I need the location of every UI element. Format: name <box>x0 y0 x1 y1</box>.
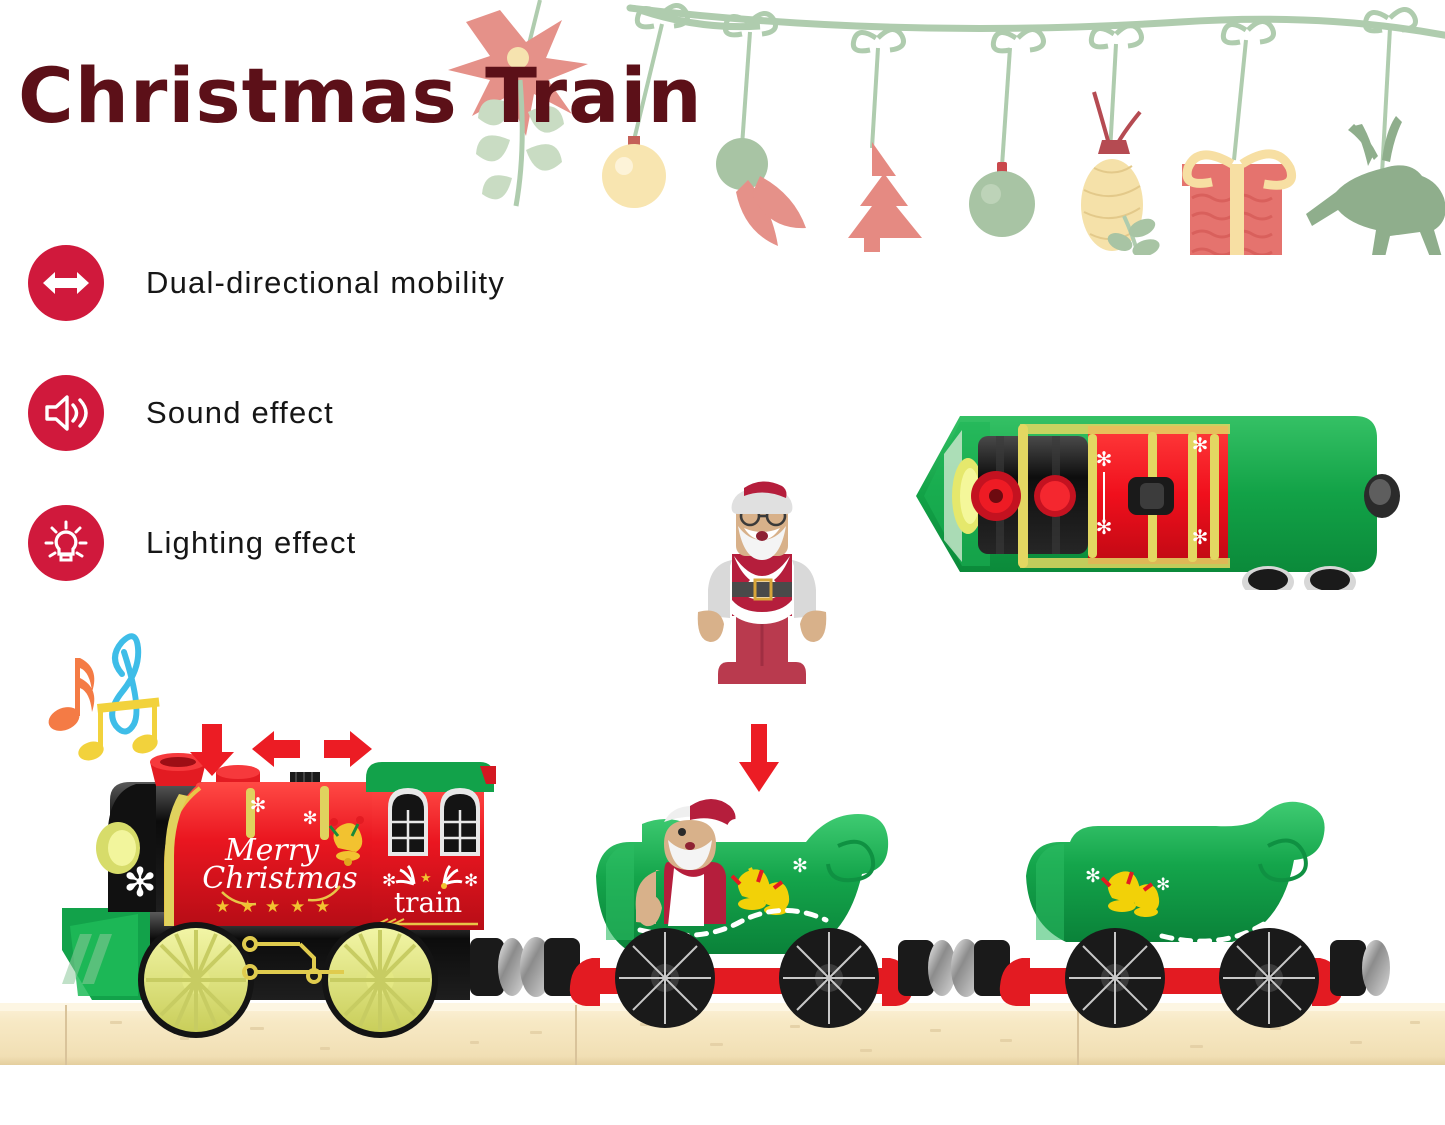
arrow-down-icon <box>739 724 779 792</box>
svg-text:★: ★ <box>265 897 280 917</box>
svg-text:✻: ✻ <box>123 860 157 906</box>
page-title: Christmas Train <box>18 58 703 134</box>
svg-text:✻: ✻ <box>464 871 478 891</box>
svg-text:✻: ✻ <box>1085 865 1101 887</box>
cream-ball-ornament <box>602 136 666 208</box>
feature-label: Lighting effect <box>146 525 356 561</box>
feature-list: Dual-directional mobility Sound effect <box>28 240 505 630</box>
svg-text:✻: ✻ <box>302 808 317 829</box>
green-ball-leaf-ornament <box>716 138 806 246</box>
infographic-canvas: Christmas Train Dual-directional mobilit… <box>0 0 1445 1125</box>
svg-text:✻: ✻ <box>250 793 267 817</box>
pinecone-ornament <box>1081 92 1162 255</box>
coupler-magnet <box>898 939 1010 997</box>
locomotive-top-view: ✻✻✻✻ <box>900 404 1416 590</box>
feature-item-lighting-effect[interactable]: Lighting effect <box>28 500 505 586</box>
svg-text:✻: ✻ <box>792 855 808 877</box>
svg-text:✻: ✻ <box>1156 875 1170 895</box>
svg-text:✻: ✻ <box>1192 525 1209 549</box>
gift-box-ornament <box>1182 154 1292 255</box>
coupler-magnet <box>470 937 580 997</box>
reindeer-ornament <box>1306 116 1445 255</box>
santa-minifigure <box>682 470 842 700</box>
empty-sleigh-car: ✻ ✻ <box>1000 802 1390 1028</box>
feature-label: Sound effect <box>146 395 334 431</box>
svg-text:✻: ✻ <box>1096 447 1113 471</box>
lightbulb-badge <box>28 505 104 581</box>
sixteenth-note <box>45 658 94 735</box>
speaker-icon <box>43 393 89 433</box>
santa-sleigh-car: ✻ ✻ <box>570 799 1010 1028</box>
svg-text:★: ★ <box>240 897 255 917</box>
pink-tree-ornament <box>848 142 922 252</box>
svg-text:✻: ✻ <box>1192 433 1209 457</box>
santa-placement-arrow <box>737 722 781 794</box>
arrow-left-icon <box>252 731 300 767</box>
arrow-down-icon <box>190 724 234 776</box>
coupler-magnet <box>1330 940 1390 996</box>
christmas-locomotive: ✻ ✻ ✻ Merry Christmas ★ ★ ★ ★ ★ <box>62 753 580 1038</box>
feature-item-sound-effect[interactable]: Sound effect <box>28 370 505 456</box>
lightbulb-icon <box>43 520 89 566</box>
svg-text:★: ★ <box>315 897 330 917</box>
dual-arrow-badge <box>28 245 104 321</box>
arrow-right-icon <box>324 731 372 767</box>
svg-text:★: ★ <box>420 871 432 886</box>
svg-text:★: ★ <box>290 897 305 917</box>
svg-text:★: ★ <box>215 897 230 917</box>
cab-text: train <box>394 886 462 919</box>
dual-arrow-icon <box>41 268 91 298</box>
treble-clef <box>112 636 138 731</box>
feature-item-dual-directional[interactable]: Dual-directional mobility <box>28 240 505 326</box>
feature-label: Dual-directional mobility <box>146 265 505 301</box>
speaker-badge <box>28 375 104 451</box>
green-ball-ornament <box>969 162 1035 237</box>
locomotive-direction-arrows <box>186 722 376 778</box>
